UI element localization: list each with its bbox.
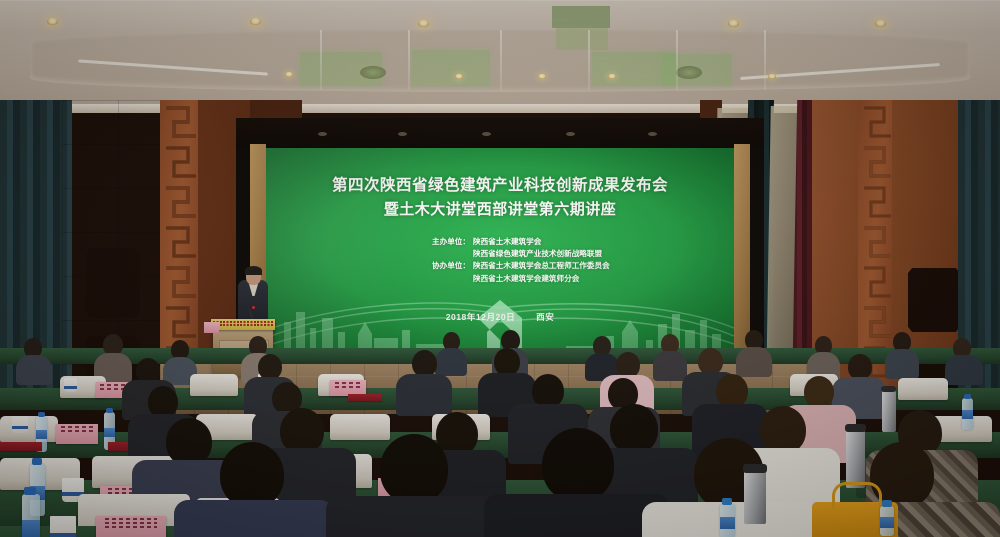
ceiling-rib (320, 30, 322, 90)
organizer-row: 主办单位： 陕西省土木建筑学会 (266, 236, 734, 248)
organizer-value: 陕西省土木建筑学会建筑师分会 (473, 273, 579, 285)
stage-spotlight (566, 132, 575, 136)
bottle-cap (32, 458, 42, 465)
ceiling-soffit (0, 0, 1000, 30)
ceiling-vent-round (360, 66, 386, 79)
thermos-cap (845, 424, 866, 432)
name-card (56, 424, 98, 444)
water-bottle (720, 504, 735, 537)
podium-banner (211, 319, 275, 330)
bottle-cap (964, 394, 971, 399)
ceiling-downlight (47, 18, 58, 25)
organizer-row: 陕西省土木建筑学会建筑师分会 (266, 273, 734, 285)
ceiling-vent-square (556, 28, 608, 50)
ceiling-downlight (875, 20, 886, 27)
organizer-label: 协办单位： (414, 260, 470, 272)
red-folder (0, 442, 42, 451)
bottle-cap (38, 412, 45, 417)
organizer-label (414, 248, 470, 260)
organizer-value: 陕西省土木建筑学会 (473, 236, 541, 248)
bottle-cap (882, 500, 892, 507)
ceiling-rib (408, 30, 410, 90)
speaker-hair (245, 266, 262, 275)
ceiling (0, 0, 1000, 112)
paper-cup (64, 378, 77, 392)
wall-speaker-grille (908, 268, 960, 332)
thermos (744, 470, 766, 524)
screen-organizers: 主办单位： 陕西省土木建筑学会 陕西省绿色建筑产业技术创新战略联盟 协办单位： … (266, 236, 734, 285)
bottle-cap (106, 408, 113, 413)
chair-cover (330, 414, 390, 440)
ceiling-downlight (728, 20, 739, 27)
screen-date-line: 2018年12月20日 西安 (266, 311, 734, 323)
ceiling-rib (588, 30, 590, 90)
ceiling-rib (500, 30, 502, 90)
stage-header-dark (236, 118, 764, 148)
screen-title-line1: 第四次陕西省绿色建筑产业科技创新成果发布会 (266, 174, 734, 198)
ceiling-downlight (768, 74, 776, 79)
organizer-value: 陕西省绿色建筑产业技术创新战略联盟 (473, 248, 602, 260)
organizer-row: 陕西省绿色建筑产业技术创新战略联盟 (266, 248, 734, 260)
organizer-row: 协办单位： 陕西省土木建筑学会总工程师工作委员会 (266, 260, 734, 272)
audience-area (0, 330, 1000, 537)
ceiling-vent-square (552, 6, 610, 28)
thermos (882, 390, 896, 432)
ceiling-downlight (250, 18, 261, 25)
screen-city: 西安 (536, 312, 554, 322)
bottle-cap (722, 498, 732, 505)
water-bottle (22, 494, 40, 537)
ceiling-rib (764, 30, 766, 90)
thermos-cap (881, 386, 896, 392)
bag-handle (832, 482, 882, 509)
red-folder (348, 394, 382, 401)
screen-date: 2018年12月20日 (446, 312, 516, 322)
paper-cup (12, 416, 28, 433)
ceiling-downlight (538, 74, 546, 79)
chair-cover (0, 416, 58, 442)
stage-spotlight (398, 132, 407, 136)
water-bottle (962, 398, 973, 430)
ceiling-downlight (608, 74, 616, 79)
ceiling-downlight (285, 72, 293, 77)
chair-cover (190, 374, 238, 396)
ceiling-vent-round (676, 66, 702, 79)
ceiling-downlight (455, 74, 463, 79)
thermos (846, 430, 865, 488)
paper-cup (50, 516, 76, 537)
bottle-cap (24, 487, 36, 495)
organizer-label: 主办单位： (414, 236, 470, 248)
chair-cover (898, 378, 948, 400)
ceiling-downlight (418, 20, 429, 27)
screen-title: 第四次陕西省绿色建筑产业科技创新成果发布会 暨土木大讲堂西部讲堂第六期讲座 (266, 174, 734, 222)
water-bottle (880, 506, 894, 536)
organizer-label (414, 273, 470, 285)
microphone-indicator (252, 306, 255, 309)
stage-spotlight (318, 132, 327, 136)
ceiling-rib (676, 30, 678, 90)
stage-spotlight (482, 132, 491, 136)
ceiling-green-panel (412, 50, 490, 86)
thermos-cap (743, 464, 767, 473)
conference-hall-photo: 第四次陕西省绿色建筑产业科技创新成果发布会 暨土木大讲堂西部讲堂第六期讲座 主办… (0, 0, 1000, 537)
screen-title-line2: 暨土木大讲堂西部讲堂第六期讲座 (266, 198, 734, 222)
stage-spotlight (648, 132, 657, 136)
wall-speaker-grille (86, 248, 140, 318)
organizer-value: 陕西省土木建筑学会总工程师工作委员会 (473, 260, 610, 272)
